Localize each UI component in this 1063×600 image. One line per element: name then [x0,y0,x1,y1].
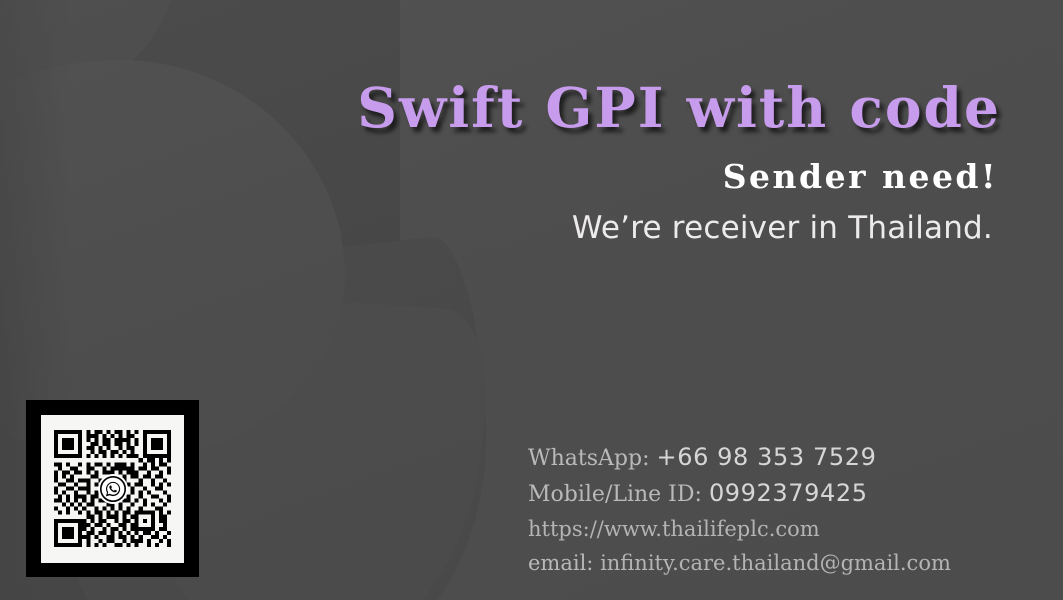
contact-website-url[interactable]: https://www.thailifeplc.com [528,517,820,541]
tagline: We’re receiver in Thailand. [0,209,993,248]
contact-email-address[interactable]: infinity.care.thailand@gmail.com [600,551,951,575]
contact-email-label: email: [528,551,593,575]
contact-whatsapp: WhatsApp: +66 98 353 7529 [528,440,998,476]
contact-mobile-label: Mobile/Line ID: [528,482,702,507]
subheadline: Sender need! [0,157,998,197]
contact-mobile: Mobile/Line ID: 0992379425 [528,476,998,512]
contact-website[interactable]: https://www.thailifeplc.com [528,512,998,546]
qr-code-matrix[interactable] [54,430,171,547]
contact-block: WhatsApp: +66 98 353 7529 Mobile/Line ID… [528,440,998,580]
whatsapp-icon [98,474,128,504]
contact-whatsapp-number[interactable]: +66 98 353 7529 [657,443,877,471]
contact-email: email: infinity.care.thailand@gmail.com [528,546,998,580]
poster-canvas: Swift GPI with code Sender need! We’re r… [0,0,1063,600]
qr-code-quiet-zone [41,415,184,563]
contact-mobile-number[interactable]: 0992379425 [709,479,868,507]
qr-code-frame[interactable] [26,400,199,577]
page-title: Swift GPI with code [0,80,1001,135]
contact-whatsapp-label: WhatsApp: [528,446,650,471]
poster-content: Swift GPI with code Sender need! We’re r… [0,0,1063,600]
